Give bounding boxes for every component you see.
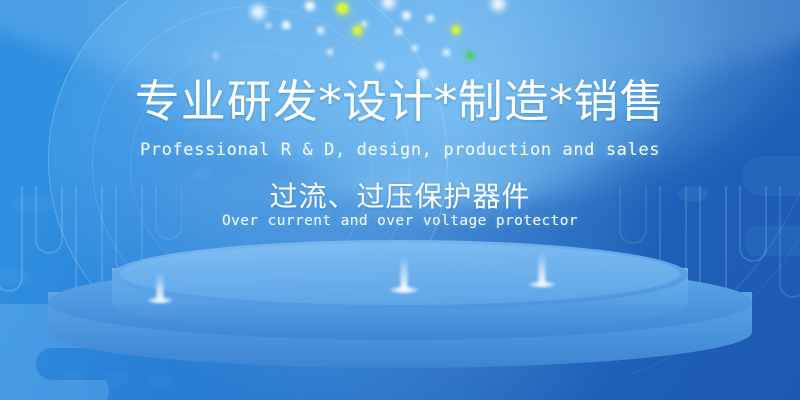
particle-dot xyxy=(251,5,265,19)
particle-dot xyxy=(327,49,333,55)
particle-dot xyxy=(467,52,473,58)
particle-dot xyxy=(266,23,271,28)
particle-dot xyxy=(337,3,348,14)
headline-chinese: 专业研发*设计*制造*销售 xyxy=(0,74,800,130)
particle-dot xyxy=(317,27,324,34)
promo-banner: 专业研发*设计*制造*销售 Professional R & D, design… xyxy=(0,0,800,400)
particle-dot xyxy=(402,11,411,20)
particle-dot xyxy=(382,0,395,9)
beam-light-pool xyxy=(528,281,556,288)
beam-shaft xyxy=(539,252,546,284)
particle-dot xyxy=(412,45,418,51)
particle-dot xyxy=(353,26,362,35)
beam-light-pool xyxy=(389,286,419,294)
headline-english: Professional R & D, design, production a… xyxy=(0,138,800,162)
particle-dot xyxy=(395,28,402,35)
beam-shaft xyxy=(401,256,408,290)
particle-dot xyxy=(214,54,218,58)
particle-dot xyxy=(443,49,450,56)
particle-dot xyxy=(427,15,434,22)
particle-dot xyxy=(305,1,315,11)
subheadline-english: Over current and over voltage protector xyxy=(0,211,800,231)
beam-light-pool xyxy=(147,297,173,304)
particle-dot xyxy=(452,26,460,34)
particle-dot xyxy=(376,62,384,70)
particle-dot xyxy=(361,21,367,27)
particle-dot xyxy=(285,24,289,28)
